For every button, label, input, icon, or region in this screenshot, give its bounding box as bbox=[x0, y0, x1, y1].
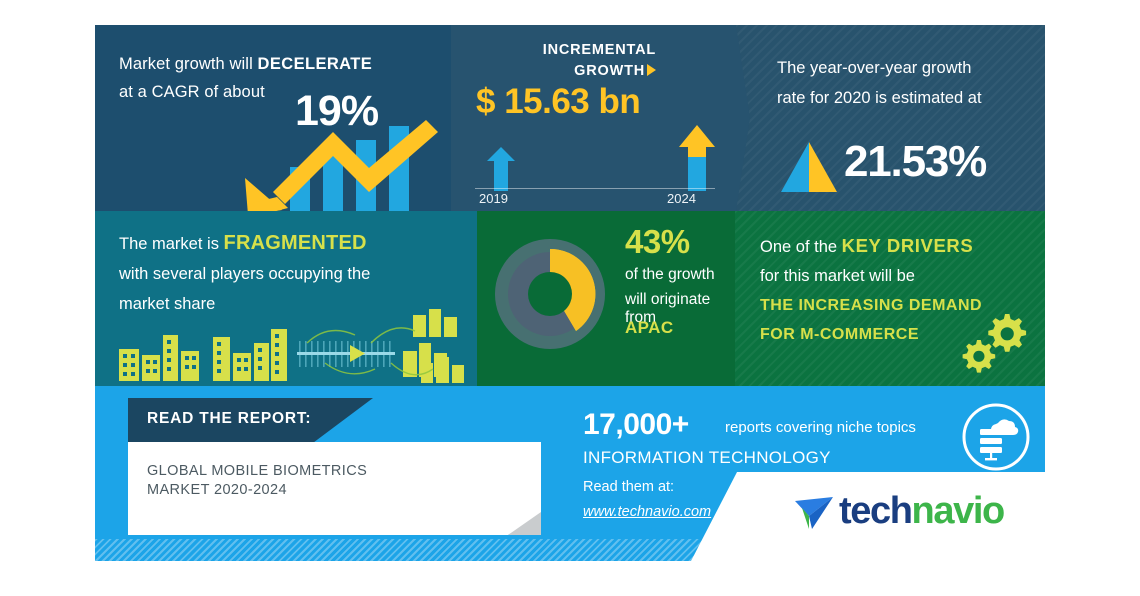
panel-cagr: Market growth will DECELERATE at a CAGR … bbox=[95, 25, 451, 211]
read-them-at-label: Read them at: bbox=[583, 479, 674, 495]
city-buildings-split-icon bbox=[103, 307, 477, 385]
fragmented-line2: with several players occupying the bbox=[119, 265, 370, 283]
apac-percent: 43% bbox=[625, 223, 690, 261]
incremental-label-line1: INCREMENTAL bbox=[543, 42, 656, 58]
read-the-report-label: READ THE REPORT: bbox=[147, 410, 311, 428]
yoy-line1: The year-over-year growth bbox=[777, 59, 971, 77]
cagr-line2: at a CAGR of about bbox=[119, 83, 265, 101]
incremental-year-end: 2024 bbox=[667, 191, 696, 206]
footer-hatch-pattern bbox=[95, 539, 1045, 561]
technavio-logo: technavio bbox=[795, 486, 1010, 542]
report-count: 17,000+ bbox=[583, 408, 689, 442]
technavio-wordmark: technavio bbox=[839, 490, 1004, 533]
drivers-description: One of the KEY DRIVERS for this market w… bbox=[760, 231, 982, 349]
drivers-line3: THE INCREASING DEMAND bbox=[760, 297, 982, 314]
fragmented-highlight: FRAGMENTED bbox=[224, 232, 367, 254]
infographic-canvas: Market growth will DECELERATE at a CAGR … bbox=[0, 0, 1140, 596]
industry-vertical: INFORMATION TECHNOLOGY bbox=[583, 448, 831, 468]
panel-key-drivers: One of the KEY DRIVERS for this market w… bbox=[735, 211, 1045, 386]
donut-chart-icon bbox=[485, 229, 615, 359]
middle-stats-row: The market is FRAGMENTED with several pl… bbox=[95, 211, 1045, 386]
report-title-line1: GLOBAL MOBILE BIOMETRICS bbox=[147, 463, 367, 479]
incremental-axis-line bbox=[475, 188, 715, 189]
drivers-highlight: KEY DRIVERS bbox=[842, 235, 974, 256]
drivers-line4: FOR M-COMMERCE bbox=[760, 326, 919, 343]
drivers-line2: for this market will be bbox=[760, 267, 915, 285]
incremental-growth-value: $ 15.63 bn bbox=[476, 82, 640, 122]
top-stats-row: Market growth will DECELERATE at a CAGR … bbox=[95, 25, 1045, 211]
footer-banner: READ THE REPORT: GLOBAL MOBILE BIOMETRIC… bbox=[95, 386, 1045, 561]
paper-plane-icon bbox=[795, 496, 833, 530]
website-link[interactable]: www.technavio.com bbox=[583, 504, 711, 520]
incremental-label-line2: GROWTH bbox=[574, 63, 645, 79]
cagr-line1-bold: DECELERATE bbox=[258, 55, 373, 73]
drivers-line1-plain: One of the bbox=[760, 238, 842, 256]
yoy-line2: rate for 2020 is estimated at bbox=[777, 89, 982, 107]
incremental-growth-label: INCREMENTAL GROWTH bbox=[481, 40, 656, 82]
gears-icon bbox=[957, 310, 1027, 374]
logo-text-navio: navio bbox=[912, 490, 1004, 532]
fragmented-line1-plain: The market is bbox=[119, 235, 224, 253]
report-title: GLOBAL MOBILE BIOMETRICS MARKET 2020-202… bbox=[147, 462, 497, 500]
apac-region: APAC bbox=[625, 318, 674, 338]
incremental-year-start: 2019 bbox=[479, 191, 508, 206]
panel-apac-growth: 43% of the growth will originate from AP… bbox=[477, 211, 735, 386]
yoy-value: 21.53% bbox=[844, 137, 986, 187]
apac-line1: of the growth bbox=[625, 266, 715, 284]
panel-market-fragmented: The market is FRAGMENTED with several pl… bbox=[95, 211, 477, 386]
declining-arrow-bar-chart-icon bbox=[230, 120, 445, 211]
caret-right-icon bbox=[647, 64, 656, 76]
logo-text-tech: tech bbox=[839, 490, 912, 532]
yoy-description: The year-over-year growth rate for 2020 … bbox=[777, 53, 982, 113]
fragmented-description: The market is FRAGMENTED with several pl… bbox=[119, 228, 370, 319]
cagr-line1-plain: Market growth will bbox=[119, 55, 258, 73]
report-title-line2: MARKET 2020-2024 bbox=[147, 482, 287, 498]
growth-triangle-icon bbox=[781, 142, 837, 192]
cloud-server-icon bbox=[960, 401, 1032, 473]
panel-yoy-growth: The year-over-year growth rate for 2020 … bbox=[736, 25, 1045, 211]
report-count-subtitle: reports covering niche topics bbox=[725, 419, 916, 436]
panel-incremental-growth: INCREMENTAL GROWTH $ 15.63 bn 2019 2024 bbox=[451, 25, 736, 211]
